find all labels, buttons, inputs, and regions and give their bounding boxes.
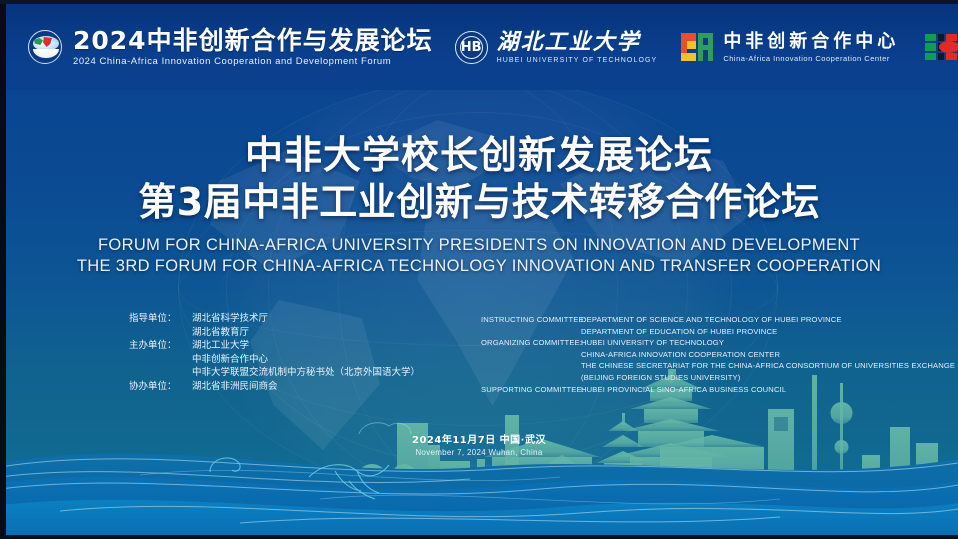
committee-value: 湖北省科学技术厅 xyxy=(192,312,268,326)
hbut-seal-icon: HB xyxy=(455,31,488,64)
event-date-chinese: 2024年11月7日 中国·武汉 xyxy=(0,434,958,447)
committee-value-en: DEPARTMENT OF EDUCATION OF HUBEI PROVINC… xyxy=(581,326,777,338)
committee-row: 协办单位： 湖北省非洲民间商会 xyxy=(129,380,420,394)
logo-cacc: 中非创新合作中心 China-Africa Innovation Coopera… xyxy=(657,4,899,90)
frame-edge-top xyxy=(0,0,958,4)
committee-row: 湖北省教育厅 xyxy=(129,326,420,340)
forum-logo-english: 2024 China-Africa Innovation Cooperation… xyxy=(73,56,433,67)
committee-label: 协办单位： xyxy=(129,380,192,394)
committee-value: 湖北工业大学 xyxy=(192,339,249,353)
committee-chinese-column: 指导单位： 湖北省科学技术厅 湖北省教育厅 主办单位： 湖北工业大学 中非创新合… xyxy=(129,312,420,393)
committee-label-en xyxy=(481,326,581,338)
committee-english-column: INSTRUCTING COMMITTEE: DEPARTMENT OF SCI… xyxy=(481,314,958,395)
committee-label: 指导单位： xyxy=(129,312,192,326)
conference-banner: 中非大学校长创新发展论坛 第3届中非工业创新与技术转移合作论坛 FORUM FO… xyxy=(0,0,958,539)
event-date-block: 2024年11月7日 中国·武汉 November 7, 2024 Wuhan,… xyxy=(0,434,958,458)
committee-label xyxy=(129,326,192,340)
logo-hbut: HB 湖北工业大学 HUBEI UNIVERSITY OF TECHNOLOGY xyxy=(433,4,658,90)
committee-label xyxy=(129,353,192,367)
ca-monogram-icon xyxy=(681,33,713,61)
logo-caceum: 中非大学联盟交流机制 China-Africa Consortium of Un… xyxy=(899,4,958,90)
committee-label-en: ORGANIZING COMMITTEE: xyxy=(481,337,581,349)
crane-line-art-icon xyxy=(305,455,395,505)
committee-row-en: (BEIJING FOREIGN STUDIES UNIVERSITY) xyxy=(481,372,958,384)
main-title-block: 中非大学校长创新发展论坛 第3届中非工业创新与技术转移合作论坛 FORUM FO… xyxy=(0,132,958,277)
committee-value-en: THE CHINESE SECRETARIAT FOR THE CHINA-AF… xyxy=(581,360,958,372)
committee-label-en xyxy=(481,349,581,361)
committee-row-en: THE CHINESE SECRETARIAT FOR THE CHINA-AF… xyxy=(481,360,958,372)
committee-label-en xyxy=(481,372,581,384)
committee-label: 主办单位： xyxy=(129,339,192,353)
frame-edge-left xyxy=(0,0,6,539)
committee-row: 中非大学联盟交流机制中方秘书处（北京外国语大学） xyxy=(129,366,420,380)
frame-edge-bottom xyxy=(0,535,958,539)
committee-row: 中非创新合作中心 xyxy=(129,353,420,367)
cacc-logo-chinese: 中非创新合作中心 xyxy=(723,31,899,52)
forum-emblem-icon xyxy=(28,30,62,64)
committee-row-en: CHINA-AFRICA INNOVATION COOPERATION CENT… xyxy=(481,349,958,361)
consortium-mark-icon xyxy=(925,34,958,60)
hbut-seal-mark: HB xyxy=(460,36,483,59)
committee-value-en: HUBEI PROVINCIAL SINO-AFRICA BUSINESS CO… xyxy=(581,384,786,396)
cacc-logo-english: China-Africa Innovation Cooperation Cent… xyxy=(723,54,899,63)
committee-label-en: SUPPORTING COMMITTEE: xyxy=(481,384,581,396)
event-date-english: November 7, 2024 Wuhan, China xyxy=(0,447,958,458)
hbut-logo-english: HUBEI UNIVERSITY OF TECHNOLOGY xyxy=(497,57,658,64)
title-english-line-2: THE 3RD FORUM FOR CHINA-AFRICA TECHNOLOG… xyxy=(0,256,958,277)
committee-row-en: DEPARTMENT OF EDUCATION OF HUBEI PROVINC… xyxy=(481,326,958,338)
logo-header-bar: 2024中非创新合作与发展论坛 2024 China-Africa Innova… xyxy=(0,4,958,90)
committee-row: 指导单位： 湖北省科学技术厅 xyxy=(129,312,420,326)
committee-value-en: CHINA-AFRICA INNOVATION COOPERATION CENT… xyxy=(581,349,780,361)
committee-row-en: SUPPORTING COMMITTEE: HUBEI PROVINCIAL S… xyxy=(481,384,958,396)
committee-row: 主办单位： 湖北工业大学 xyxy=(129,339,420,353)
committee-value: 湖北省非洲民间商会 xyxy=(192,380,278,394)
committee-value-en: HUBEI UNIVERSITY OF TECHNOLOGY xyxy=(581,337,724,349)
committee-value-en: (BEIJING FOREIGN STUDIES UNIVERSITY) xyxy=(581,372,740,384)
committee-value: 中非创新合作中心 xyxy=(192,353,268,367)
title-english-line-1: FORUM FOR CHINA-AFRICA UNIVERSITY PRESID… xyxy=(0,235,958,256)
committee-label-en: INSTRUCTING COMMITTEE: xyxy=(481,314,581,326)
forum-logo-chinese: 2024中非创新合作与发展论坛 xyxy=(73,27,433,55)
committee-row-en: ORGANIZING COMMITTEE: HUBEI UNIVERSITY O… xyxy=(481,337,958,349)
title-chinese-line-2: 第3届中非工业创新与技术转移合作论坛 xyxy=(0,178,958,226)
title-chinese-line-1: 中非大学校长创新发展论坛 xyxy=(0,132,958,178)
committee-value-en: DEPARTMENT OF SCIENCE AND TECHNOLOGY OF … xyxy=(581,314,842,326)
committee-label xyxy=(129,366,192,380)
committee-row-en: INSTRUCTING COMMITTEE: DEPARTMENT OF SCI… xyxy=(481,314,958,326)
logo-forum: 2024中非创新合作与发展论坛 2024 China-Africa Innova… xyxy=(0,4,433,90)
committee-label-en xyxy=(481,360,581,372)
committee-value: 湖北省教育厅 xyxy=(192,326,249,340)
committee-value: 中非大学联盟交流机制中方秘书处（北京外国语大学） xyxy=(192,366,420,380)
hbut-logo-chinese: 湖北工业大学 xyxy=(497,30,658,55)
